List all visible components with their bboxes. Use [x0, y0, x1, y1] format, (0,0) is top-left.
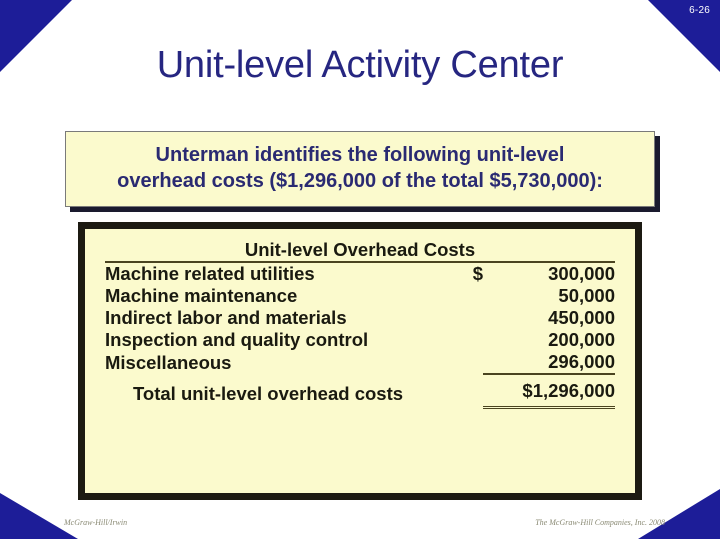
footer-publisher: McGraw-Hill/Irwin	[64, 518, 127, 527]
cost-amount: 50,000	[483, 285, 615, 307]
table-row: Miscellaneous 296,000	[105, 351, 615, 374]
cost-currency-symbol: $	[461, 262, 483, 285]
table-row: Inspection and quality control 200,000	[105, 329, 615, 351]
unit-level-overhead-costs-table: Unit-level Overhead Costs Machine relate…	[105, 239, 615, 409]
cost-amount: 450,000	[483, 307, 615, 329]
table-body: Machine related utilities $ 300,000 Mach…	[105, 262, 615, 408]
total-label: Total unit-level overhead costs	[105, 374, 461, 408]
table-total-row: Total unit-level overhead costs $1,296,0…	[105, 374, 615, 408]
cost-label: Machine related utilities	[105, 262, 461, 285]
total-currency-symbol	[461, 374, 483, 408]
corner-triangle-bottom-left	[0, 493, 78, 539]
total-amount: $1,296,000	[483, 374, 615, 408]
cost-label: Machine maintenance	[105, 285, 461, 307]
callout-line-1: Unterman identifies the following unit-l…	[78, 142, 642, 168]
page-number: 6-26	[689, 5, 710, 16]
cost-currency-symbol	[461, 307, 483, 329]
cost-label: Miscellaneous	[105, 351, 461, 374]
table-row: Machine maintenance 50,000	[105, 285, 615, 307]
table-head: Unit-level Overhead Costs	[105, 239, 615, 262]
slide-canvas: 6-26 Unit-level Activity Center Unterman…	[0, 0, 720, 539]
cost-currency-symbol	[461, 351, 483, 374]
callout-box: Unterman identifies the following unit-l…	[65, 131, 655, 207]
table-row: Indirect labor and materials 450,000	[105, 307, 615, 329]
footer-copyright: The McGraw-Hill Companies, Inc. 2008	[535, 518, 665, 527]
cost-table-panel: Unit-level Overhead Costs Machine relate…	[78, 222, 642, 500]
cost-currency-symbol	[461, 329, 483, 351]
table-header-row: Unit-level Overhead Costs	[105, 239, 615, 262]
cost-label: Indirect labor and materials	[105, 307, 461, 329]
cost-amount: 300,000	[483, 262, 615, 285]
cost-amount: 200,000	[483, 329, 615, 351]
page-title: Unit-level Activity Center	[0, 44, 720, 87]
table-header-title: Unit-level Overhead Costs	[105, 239, 615, 262]
table-row: Machine related utilities $ 300,000	[105, 262, 615, 285]
corner-triangle-bottom-right	[638, 489, 720, 539]
cost-amount: 296,000	[483, 351, 615, 374]
callout-line-2: overhead costs ($1,296,000 of the total …	[78, 168, 642, 194]
cost-label: Inspection and quality control	[105, 329, 461, 351]
cost-currency-symbol	[461, 285, 483, 307]
